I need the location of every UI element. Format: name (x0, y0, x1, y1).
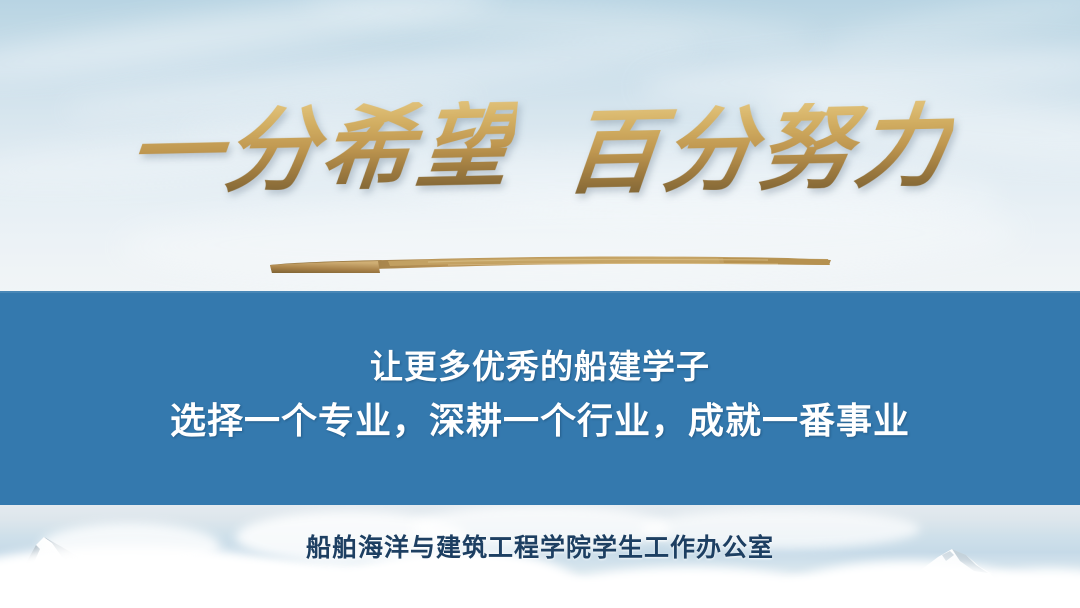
headline-part-1: 一分希望 (124, 100, 518, 200)
headline: 一分希望 百分努力 (0, 104, 1080, 196)
message-banner: 让更多优秀的船建学子 选择一个专业，深耕一个行业，成就一番事业 (0, 291, 1080, 505)
footer-organization-label: 船舶海洋与建筑工程学院学生工作办公室 (306, 528, 774, 564)
banner-top-edge (0, 291, 1080, 293)
banner-line-2: 选择一个专业，深耕一个行业，成就一番事业 (0, 396, 1080, 446)
brush-stroke-icon (268, 252, 834, 274)
footer-organization: 船舶海洋与建筑工程学院学生工作办公室 (0, 528, 1080, 564)
banner-content: 让更多优秀的船建学子 选择一个专业，深耕一个行业，成就一番事业 (0, 346, 1080, 446)
poster-slide: 一分希望 百分努力 (0, 0, 1080, 608)
banner-line-1: 让更多优秀的船建学子 (0, 346, 1080, 390)
headline-part-2: 百分努力 (562, 100, 956, 200)
